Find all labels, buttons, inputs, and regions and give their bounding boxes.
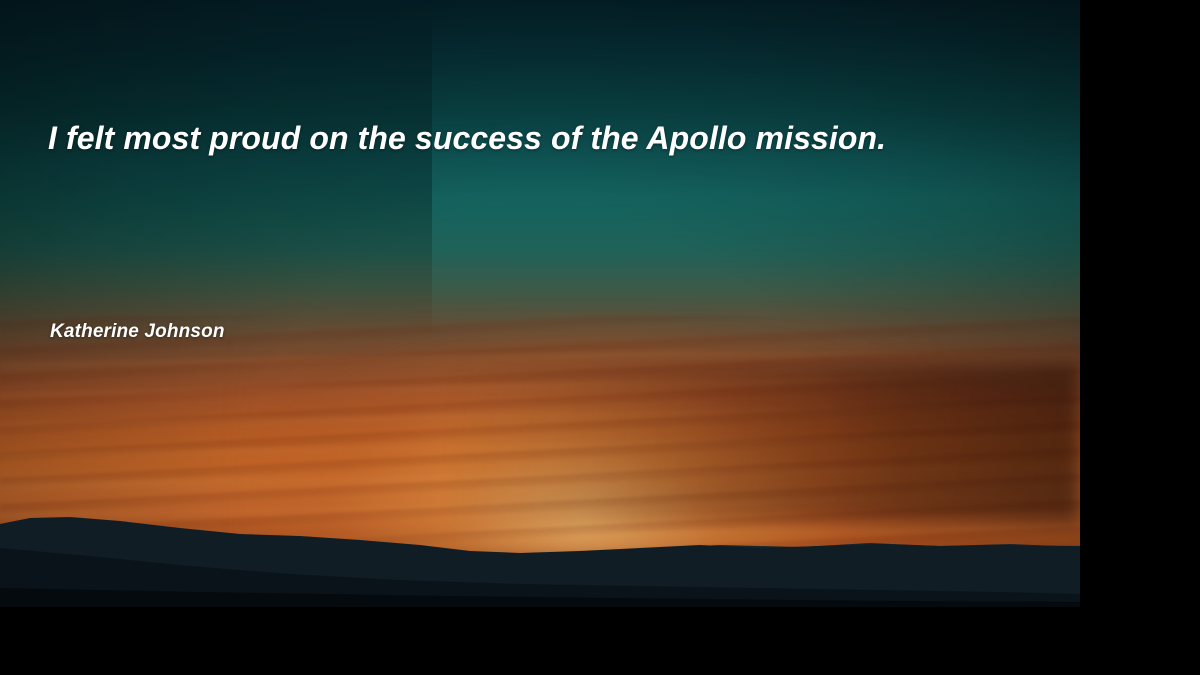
letterbox-bar-bottom: [0, 607, 1200, 675]
quote-author: Katherine Johnson: [50, 321, 225, 343]
quote-text: I felt most proud on the success of the …: [48, 118, 1048, 160]
quote-slide-image: I felt most proud on the success of the …: [0, 0, 1080, 607]
slide-root: I felt most proud on the success of the …: [0, 0, 1200, 675]
mountain-silhouette: [0, 0, 1080, 607]
letterbox-bar-right: [1080, 0, 1200, 675]
